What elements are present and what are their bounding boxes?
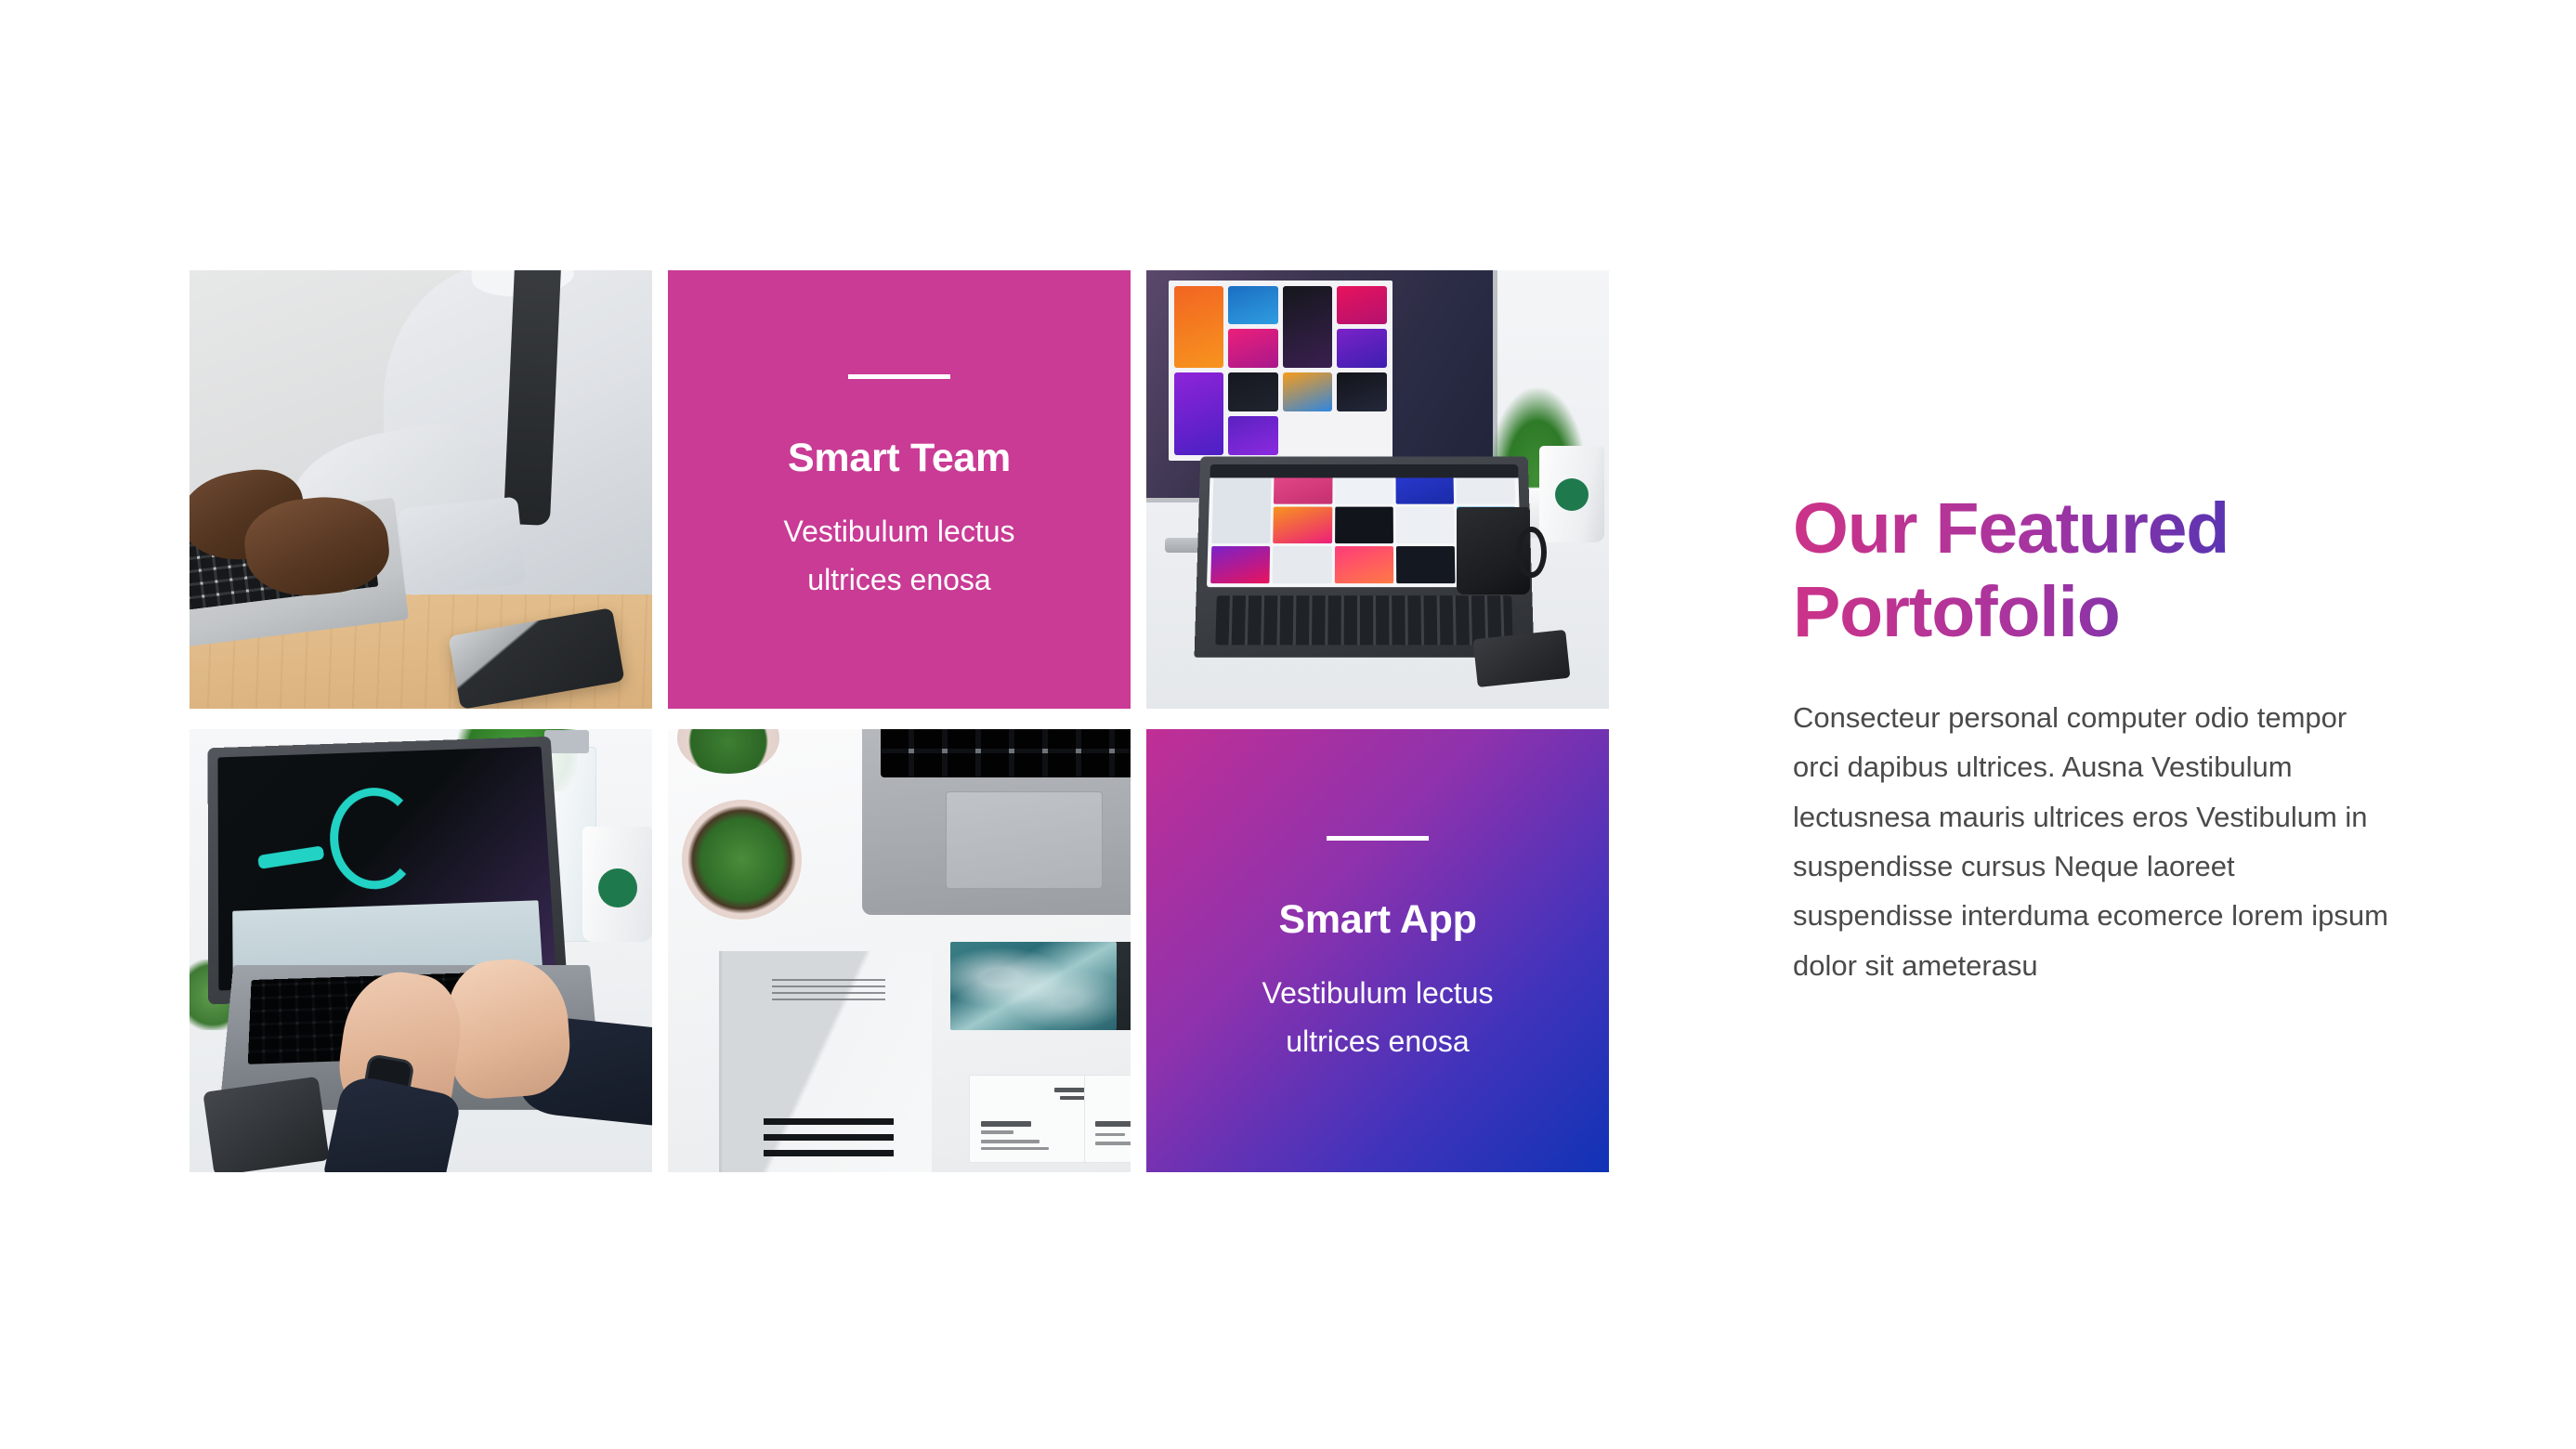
page-title: Our Featured Portofolio <box>1793 487 2391 654</box>
portfolio-tile-designer-desk-monitor-macbook[interactable] <box>1146 270 1609 709</box>
portfolio-intro-column: Our Featured Portofolio Consecteur perso… <box>1609 270 2391 990</box>
portfolio-section-page: Smart Team Vestibulum lectus ultrices en… <box>0 0 2576 1449</box>
featured-portfolio-section: Smart Team Vestibulum lectus ultrices en… <box>190 270 2391 1173</box>
card-divider-smart-team <box>848 374 950 379</box>
card-subtitle-smart-app: Vestibulum lectus ultrices enosa <box>1224 970 1531 1066</box>
portfolio-tile-smart-team-card[interactable]: Smart Team Vestibulum lectus ultrices en… <box>668 270 1131 709</box>
card-subtitle-smart-team: Vestibulum lectus ultrices enosa <box>746 508 1053 605</box>
portfolio-tile-smart-app-card[interactable]: Smart App Vestibulum lectus ultrices eno… <box>1146 729 1609 1172</box>
photo-designer-desk-monitor-macbook <box>1146 270 1609 709</box>
photo-hands-typing-macbook-dark-screen <box>190 729 652 1172</box>
intro-body-text: Consecteur personal computer odio tempor… <box>1793 693 2391 990</box>
portfolio-tile-hands-typing-macbook[interactable] <box>190 729 652 1172</box>
card-divider-smart-app <box>1327 836 1429 841</box>
photo-businessman-typing-laptop <box>190 270 652 709</box>
card-title-smart-team: Smart Team <box>788 437 1011 480</box>
portfolio-tile-businessman-typing-laptop[interactable] <box>190 270 652 709</box>
portfolio-gallery-grid: Smart Team Vestibulum lectus ultrices en… <box>190 270 1609 1172</box>
card-title-smart-app: Smart App <box>1278 898 1476 942</box>
portfolio-tile-branding-flatlay[interactable] <box>668 729 1131 1172</box>
photo-branding-flatlay-very-good-creative <box>668 729 1131 1172</box>
